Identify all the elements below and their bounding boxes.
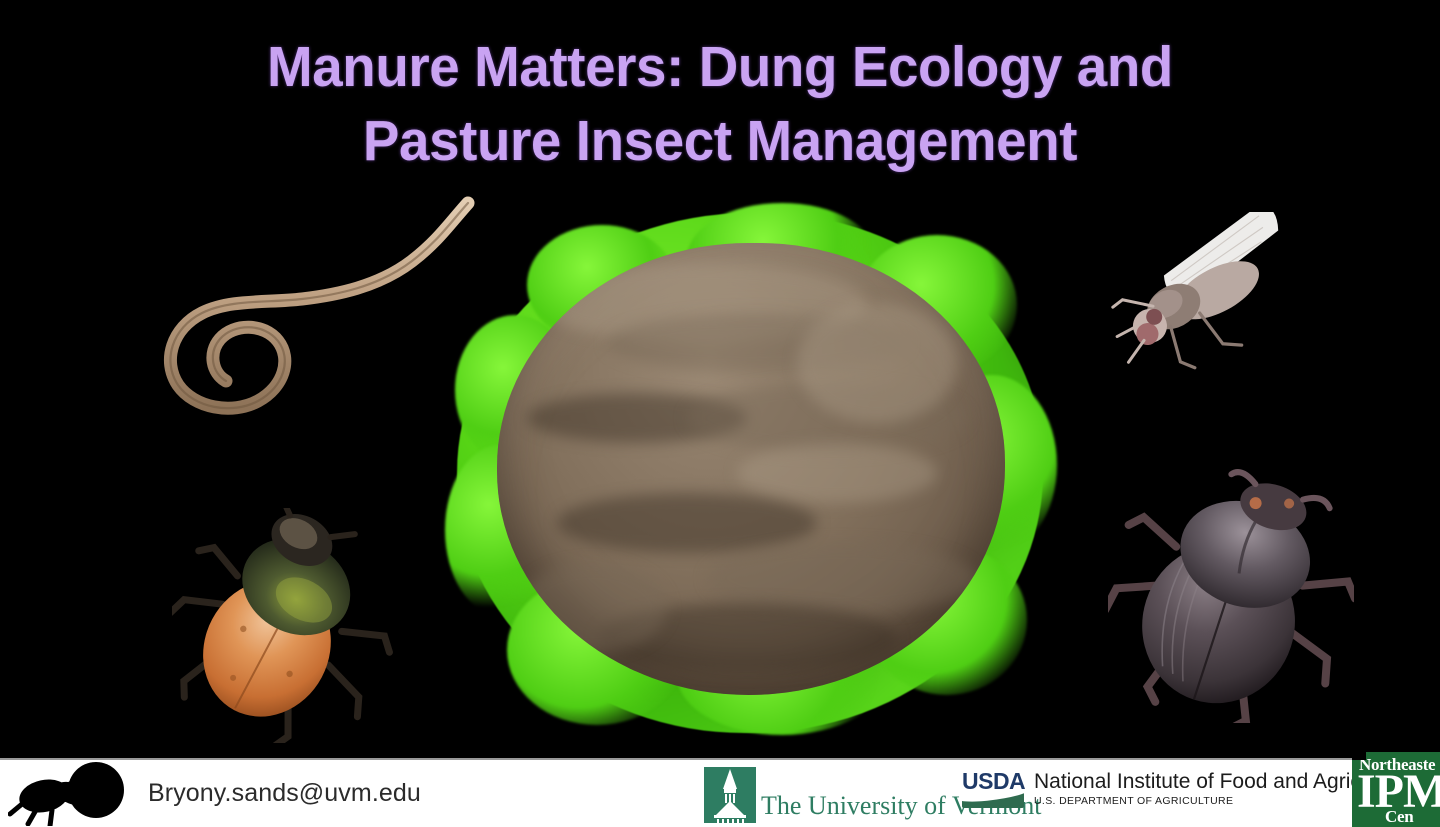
usda-nifa-logo: USDA National Institute of Food and Agri…	[962, 770, 1413, 808]
horn-fly-image	[1100, 212, 1320, 377]
dung-beetle-black-icon	[1108, 468, 1354, 723]
dung-pat-image	[437, 195, 1067, 755]
ipm-logo-corner-mask	[1352, 752, 1366, 760]
beetle-ball-icon	[8, 762, 134, 826]
black-dung-beetle-image	[1108, 468, 1354, 723]
title-line-1: Manure Matters: Dung Ecology and	[29, 30, 1411, 104]
northeastern-ipm-center-logo: Northeaste IPM Cen	[1352, 752, 1440, 827]
fly-icon	[1100, 212, 1320, 377]
nematode-image	[150, 195, 490, 420]
dung-beetle-orange-icon	[172, 508, 398, 743]
ipm-line-3: Cen	[1385, 807, 1413, 827]
footer-divider	[0, 758, 1440, 760]
uvm-tower-icon	[704, 767, 756, 823]
contact-email[interactable]: Bryony.sands@uvm.edu	[148, 779, 421, 808]
nematode-icon	[150, 195, 490, 420]
dung-pat	[497, 243, 1005, 695]
title-slide: Manure Matters: Dung Ecology and Pasture…	[0, 0, 1440, 827]
dung-beetle-pushing-ball-logo	[8, 762, 134, 826]
orange-dung-beetle-image	[172, 508, 398, 743]
title-line-2: Pasture Insect Management	[29, 104, 1411, 178]
usda-swoosh-icon	[962, 793, 1024, 808]
usda-mark-icon: USDA	[962, 770, 1024, 808]
usda-wordmark: USDA	[962, 770, 1024, 793]
slide-title: Manure Matters: Dung Ecology and Pasture…	[0, 30, 1440, 178]
